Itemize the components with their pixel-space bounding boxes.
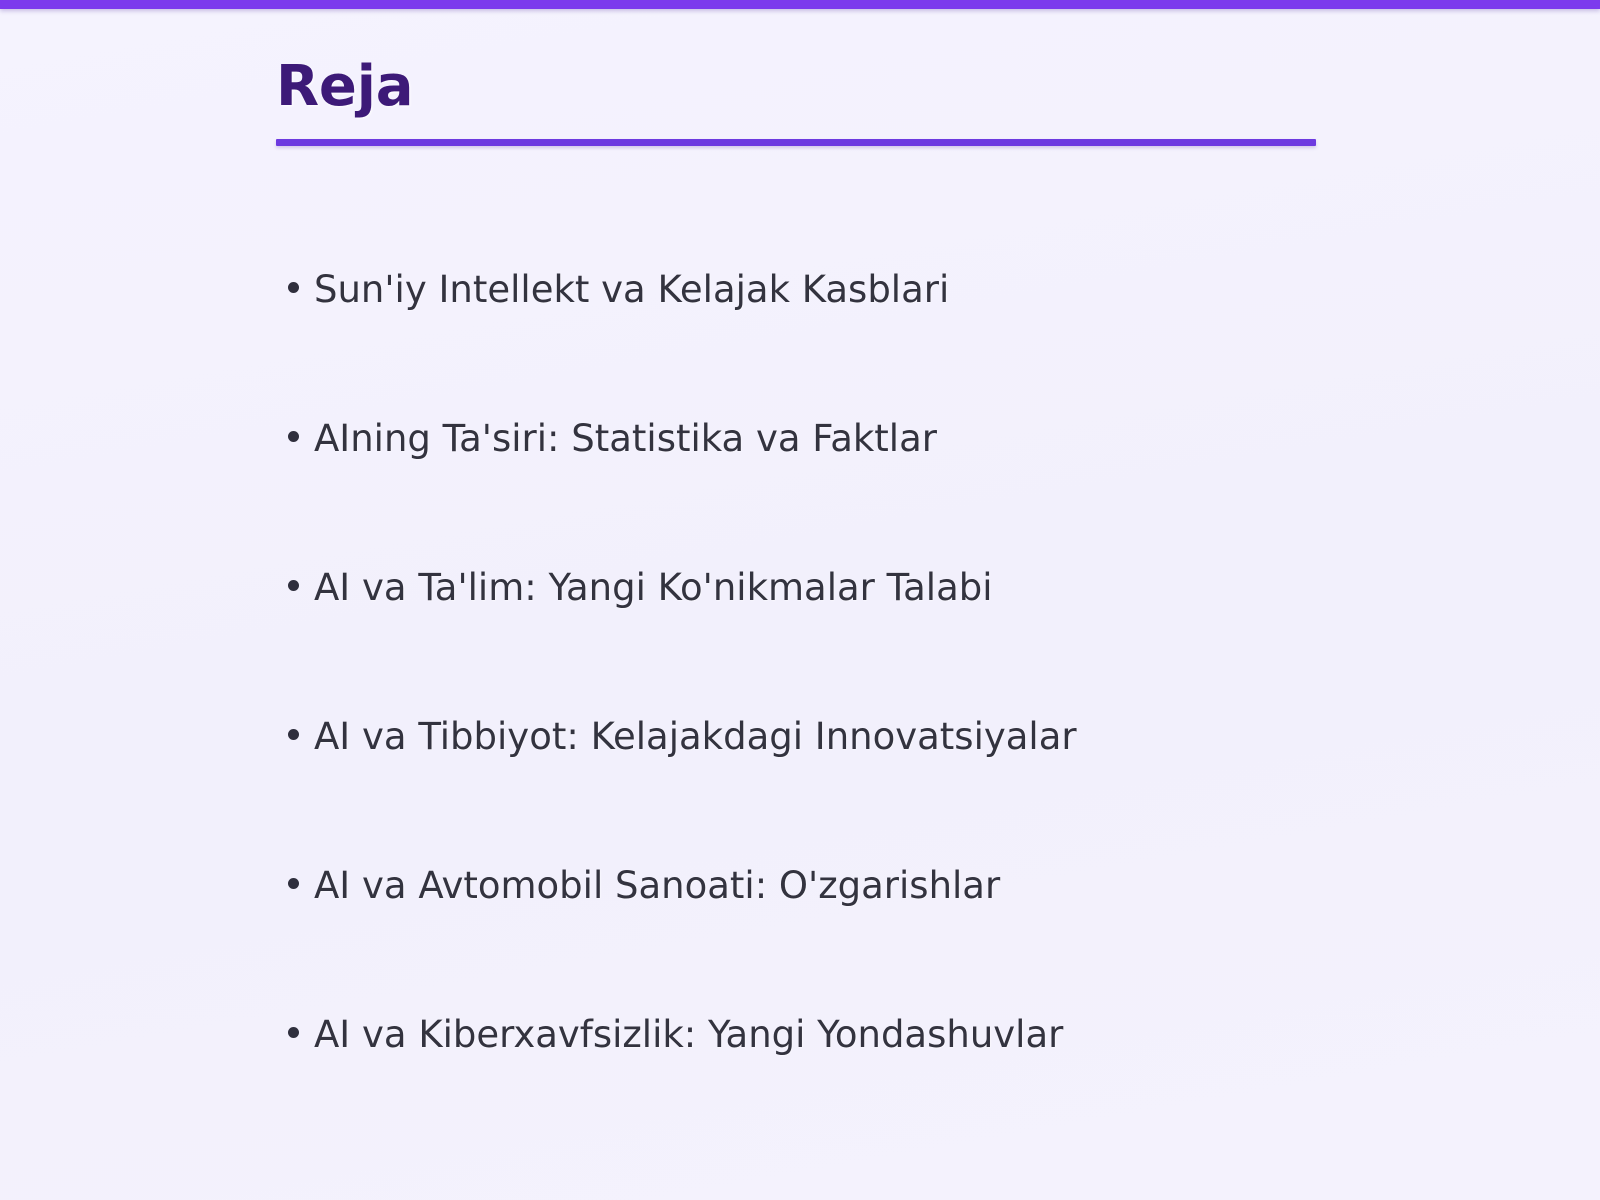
- title-underline-rule: [276, 139, 1316, 146]
- list-item: AI va Tibbiyot: Kelajakdagi Innovatsiyal…: [288, 715, 1518, 864]
- bullet-point-icon: [288, 282, 299, 293]
- bullet-point-icon: [288, 878, 299, 889]
- list-item-label: AIning Ta'siri: Statistika va Faktlar: [314, 417, 937, 461]
- top-accent-bar: [0, 0, 1600, 9]
- presentation-slide: Reja Sun'iy Intellekt va Kelajak Kasblar…: [0, 0, 1600, 1200]
- bullet-point-icon: [288, 1027, 299, 1038]
- list-item: AI va Kiberxavfsizlik: Yangi Yondashuvla…: [288, 1013, 1518, 1162]
- list-item-label: AI va Ta'lim: Yangi Ko'nikmalar Talabi: [314, 566, 993, 610]
- list-item: AI va Ta'lim: Yangi Ko'nikmalar Talabi: [288, 566, 1518, 715]
- slide-heading-block: Reja: [276, 58, 1316, 146]
- bullet-point-icon: [288, 729, 299, 740]
- list-item-label: Sun'iy Intellekt va Kelajak Kasblari: [314, 268, 949, 312]
- list-item: Sun'iy Intellekt va Kelajak Kasblari: [288, 268, 1518, 417]
- list-item: AI va Avtomobil Sanoati: O'zgarishlar: [288, 864, 1518, 1013]
- list-item-label: AI va Tibbiyot: Kelajakdagi Innovatsiyal…: [314, 715, 1077, 759]
- agenda-list: Sun'iy Intellekt va Kelajak Kasblari AIn…: [288, 268, 1518, 1162]
- list-item: AIning Ta'siri: Statistika va Faktlar: [288, 417, 1518, 566]
- list-item-label: AI va Kiberxavfsizlik: Yangi Yondashuvla…: [314, 1013, 1063, 1057]
- bullet-point-icon: [288, 431, 299, 442]
- page-title: Reja: [276, 58, 1316, 117]
- bullet-point-icon: [288, 580, 299, 591]
- list-item-label: AI va Avtomobil Sanoati: O'zgarishlar: [314, 864, 1000, 908]
